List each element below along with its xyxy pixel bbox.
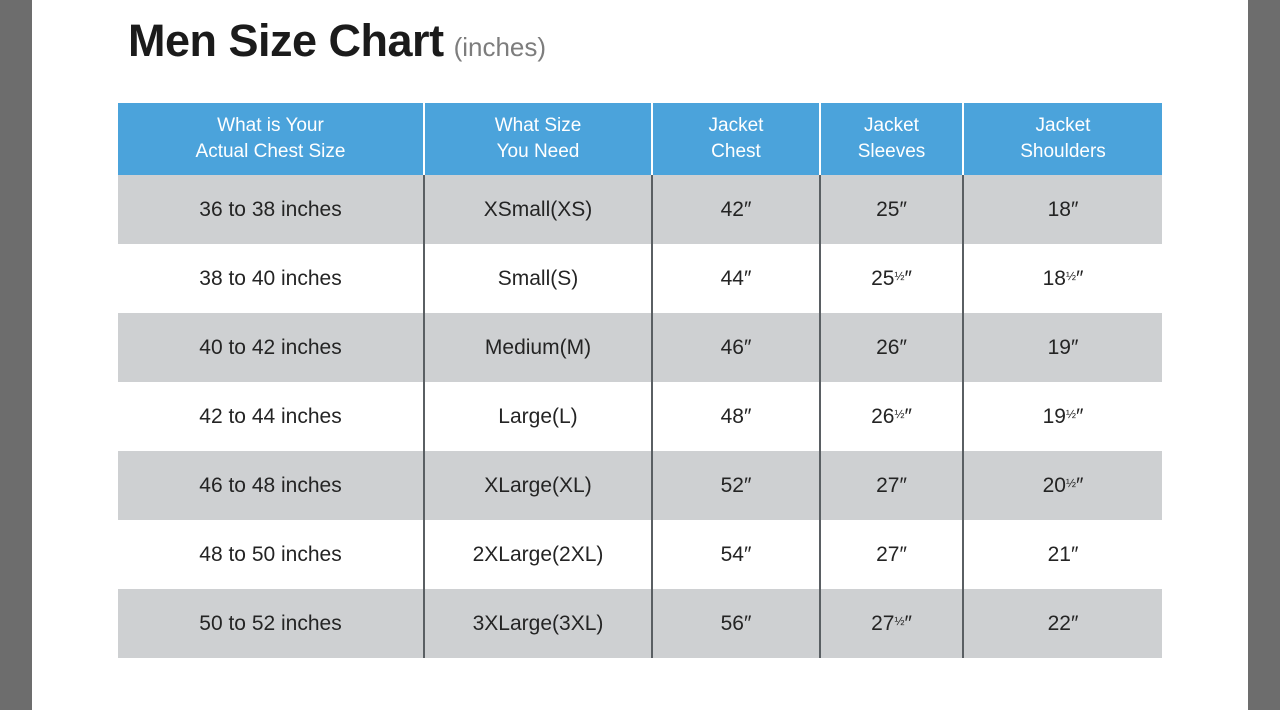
column-header-line2: Shoulders xyxy=(964,139,1162,165)
measure-fraction: ½ xyxy=(894,269,904,283)
measure-whole: 26 xyxy=(876,336,899,359)
cell-jacket-shoulders: 21″ xyxy=(963,520,1162,589)
cell-actual-chest: 50 to 52 inches xyxy=(118,589,424,658)
cell-jacket-chest: 42″ xyxy=(652,175,820,244)
page-title-main: Men Size Chart xyxy=(128,18,444,63)
cell-size-needed: XSmall(XS) xyxy=(424,175,652,244)
slide-canvas: Men Size Chart (inches) What is YourActu… xyxy=(0,0,1280,710)
cell-jacket-shoulders: 18″ xyxy=(963,175,1162,244)
cell-size-needed: 3XLarge(3XL) xyxy=(424,589,652,658)
inch-mark: ″ xyxy=(1071,198,1078,221)
column-header-line1: Jacket xyxy=(821,113,962,139)
measure-whole: 27 xyxy=(871,612,894,635)
measure-whole: 25 xyxy=(871,267,894,290)
page-title: Men Size Chart (inches) xyxy=(128,18,546,63)
inch-mark: ″ xyxy=(1076,405,1083,428)
cell-jacket-chest: 56″ xyxy=(652,589,820,658)
measure-fraction: ½ xyxy=(1066,269,1076,283)
column-header-line1: What is Your xyxy=(118,113,423,139)
cell-jacket-sleeves: 27″ xyxy=(820,520,963,589)
cell-actual-chest: 40 to 42 inches xyxy=(118,313,424,382)
inch-mark: ″ xyxy=(1076,267,1083,290)
measure-whole: 26 xyxy=(871,405,894,428)
measure-whole: 20 xyxy=(1043,474,1066,497)
cell-actual-chest: 46 to 48 inches xyxy=(118,451,424,520)
size-chart-table: What is YourActual Chest SizeWhat SizeYo… xyxy=(118,103,1162,658)
measure-whole: 22 xyxy=(1048,612,1071,635)
inch-mark: ″ xyxy=(904,405,911,428)
cell-size-needed: Medium(M) xyxy=(424,313,652,382)
right-letterbox-band xyxy=(1248,0,1280,710)
column-header-line1: Jacket xyxy=(653,113,819,139)
measure-whole: 19 xyxy=(1048,336,1071,359)
cell-jacket-chest: 48″ xyxy=(652,382,820,451)
cell-jacket-sleeves: 26″ xyxy=(820,313,963,382)
cell-jacket-shoulders: 19″ xyxy=(963,313,1162,382)
cell-actual-chest: 36 to 38 inches xyxy=(118,175,424,244)
column-header-1: What SizeYou Need xyxy=(424,103,652,175)
cell-jacket-chest: 54″ xyxy=(652,520,820,589)
table-row: 50 to 52 inches3XLarge(3XL)56″27½″22″ xyxy=(118,589,1162,658)
cell-jacket-sleeves: 25″ xyxy=(820,175,963,244)
slide-content: Men Size Chart (inches) What is YourActu… xyxy=(32,0,1248,710)
table-row: 42 to 44 inchesLarge(L)48″26½″19½″ xyxy=(118,382,1162,451)
cell-jacket-sleeves: 26½″ xyxy=(820,382,963,451)
cell-jacket-sleeves: 25½″ xyxy=(820,244,963,313)
measure-fraction: ½ xyxy=(1066,476,1076,490)
inch-mark: ″ xyxy=(1071,543,1078,566)
measure-whole: 25 xyxy=(876,198,899,221)
page-title-units: (inches) xyxy=(454,34,546,60)
inch-mark: ″ xyxy=(904,612,911,635)
cell-jacket-sleeves: 27½″ xyxy=(820,589,963,658)
column-header-line2: Actual Chest Size xyxy=(118,139,423,165)
cell-jacket-sleeves: 27″ xyxy=(820,451,963,520)
cell-jacket-shoulders: 20½″ xyxy=(963,451,1162,520)
inch-mark: ″ xyxy=(899,336,906,359)
measure-whole: 21 xyxy=(1048,543,1071,566)
cell-jacket-shoulders: 22″ xyxy=(963,589,1162,658)
inch-mark: ″ xyxy=(899,543,906,566)
cell-actual-chest: 48 to 50 inches xyxy=(118,520,424,589)
inch-mark: ″ xyxy=(1071,336,1078,359)
column-header-3: JacketSleeves xyxy=(820,103,963,175)
inch-mark: ″ xyxy=(899,198,906,221)
table-row: 46 to 48 inchesXLarge(XL)52″27″20½″ xyxy=(118,451,1162,520)
column-header-line2: You Need xyxy=(425,139,651,165)
measure-fraction: ½ xyxy=(894,407,904,421)
table-row: 36 to 38 inchesXSmall(XS)42″25″18″ xyxy=(118,175,1162,244)
left-letterbox-band xyxy=(0,0,32,710)
column-header-line2: Sleeves xyxy=(821,139,962,165)
cell-size-needed: XLarge(XL) xyxy=(424,451,652,520)
column-header-line2: Chest xyxy=(653,139,819,165)
inch-mark: ″ xyxy=(899,474,906,497)
table-body: 36 to 38 inchesXSmall(XS)42″25″18″38 to … xyxy=(118,175,1162,658)
cell-actual-chest: 42 to 44 inches xyxy=(118,382,424,451)
measure-whole: 27 xyxy=(876,474,899,497)
cell-jacket-chest: 46″ xyxy=(652,313,820,382)
cell-size-needed: Large(L) xyxy=(424,382,652,451)
table-header-row: What is YourActual Chest SizeWhat SizeYo… xyxy=(118,103,1162,175)
column-header-line1: What Size xyxy=(425,113,651,139)
cell-size-needed: Small(S) xyxy=(424,244,652,313)
measure-whole: 18 xyxy=(1048,198,1071,221)
measure-fraction: ½ xyxy=(1066,407,1076,421)
inch-mark: ″ xyxy=(1071,612,1078,635)
column-header-4: JacketShoulders xyxy=(963,103,1162,175)
cell-jacket-chest: 44″ xyxy=(652,244,820,313)
measure-fraction: ½ xyxy=(894,614,904,628)
inch-mark: ″ xyxy=(1076,474,1083,497)
inch-mark: ″ xyxy=(904,267,911,290)
column-header-line1: Jacket xyxy=(964,113,1162,139)
cell-jacket-shoulders: 18½″ xyxy=(963,244,1162,313)
table-row: 38 to 40 inchesSmall(S)44″25½″18½″ xyxy=(118,244,1162,313)
table-row: 40 to 42 inchesMedium(M)46″26″19″ xyxy=(118,313,1162,382)
table-row: 48 to 50 inches2XLarge(2XL)54″27″21″ xyxy=(118,520,1162,589)
column-header-0: What is YourActual Chest Size xyxy=(118,103,424,175)
cell-size-needed: 2XLarge(2XL) xyxy=(424,520,652,589)
cell-jacket-shoulders: 19½″ xyxy=(963,382,1162,451)
table-header: What is YourActual Chest SizeWhat SizeYo… xyxy=(118,103,1162,175)
measure-whole: 18 xyxy=(1043,267,1066,290)
cell-jacket-chest: 52″ xyxy=(652,451,820,520)
measure-whole: 19 xyxy=(1043,405,1066,428)
cell-actual-chest: 38 to 40 inches xyxy=(118,244,424,313)
measure-whole: 27 xyxy=(876,543,899,566)
column-header-2: JacketChest xyxy=(652,103,820,175)
